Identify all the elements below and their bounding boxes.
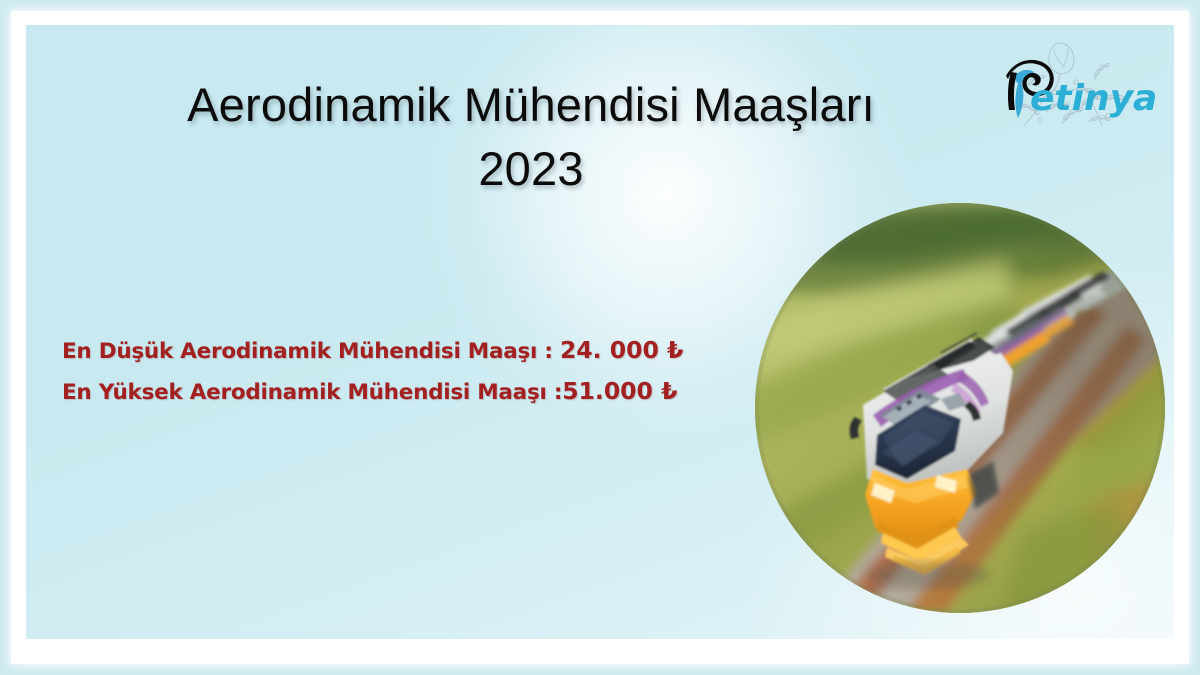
train-photo <box>755 203 1165 613</box>
salary-row-lowest: En Düşük Aerodinamik Mühendisi Maaşı : 2… <box>38 330 778 371</box>
poster-canvas: Aerodinamik Mühendisi Maaşları 2023 En D… <box>0 0 1200 675</box>
salary-list: En Düşük Aerodinamik Mühendisi Maaşı : 2… <box>38 330 778 412</box>
salary-row-highest: En Yüksek Aerodinamik Mühendisi Maaşı :5… <box>38 371 778 412</box>
salary-amount-highest: 51.000 ₺ <box>562 377 677 405</box>
page-title: Aerodinamik Mühendisi Maaşları 2023 <box>66 73 996 201</box>
salary-amount-lowest: 24. 000 ₺ <box>560 336 683 364</box>
salary-label-highest: En Yüksek Aerodinamik Mühendisi Maaşı : <box>62 380 562 405</box>
salary-label-lowest: En Düşük Aerodinamik Mühendisi Maaşı : <box>62 339 560 364</box>
content-panel: Aerodinamik Mühendisi Maaşları 2023 En D… <box>26 25 1174 639</box>
petinya-logo[interactable]: etinya <box>984 30 1164 140</box>
logo-wordmark: etinya <box>1030 78 1157 119</box>
